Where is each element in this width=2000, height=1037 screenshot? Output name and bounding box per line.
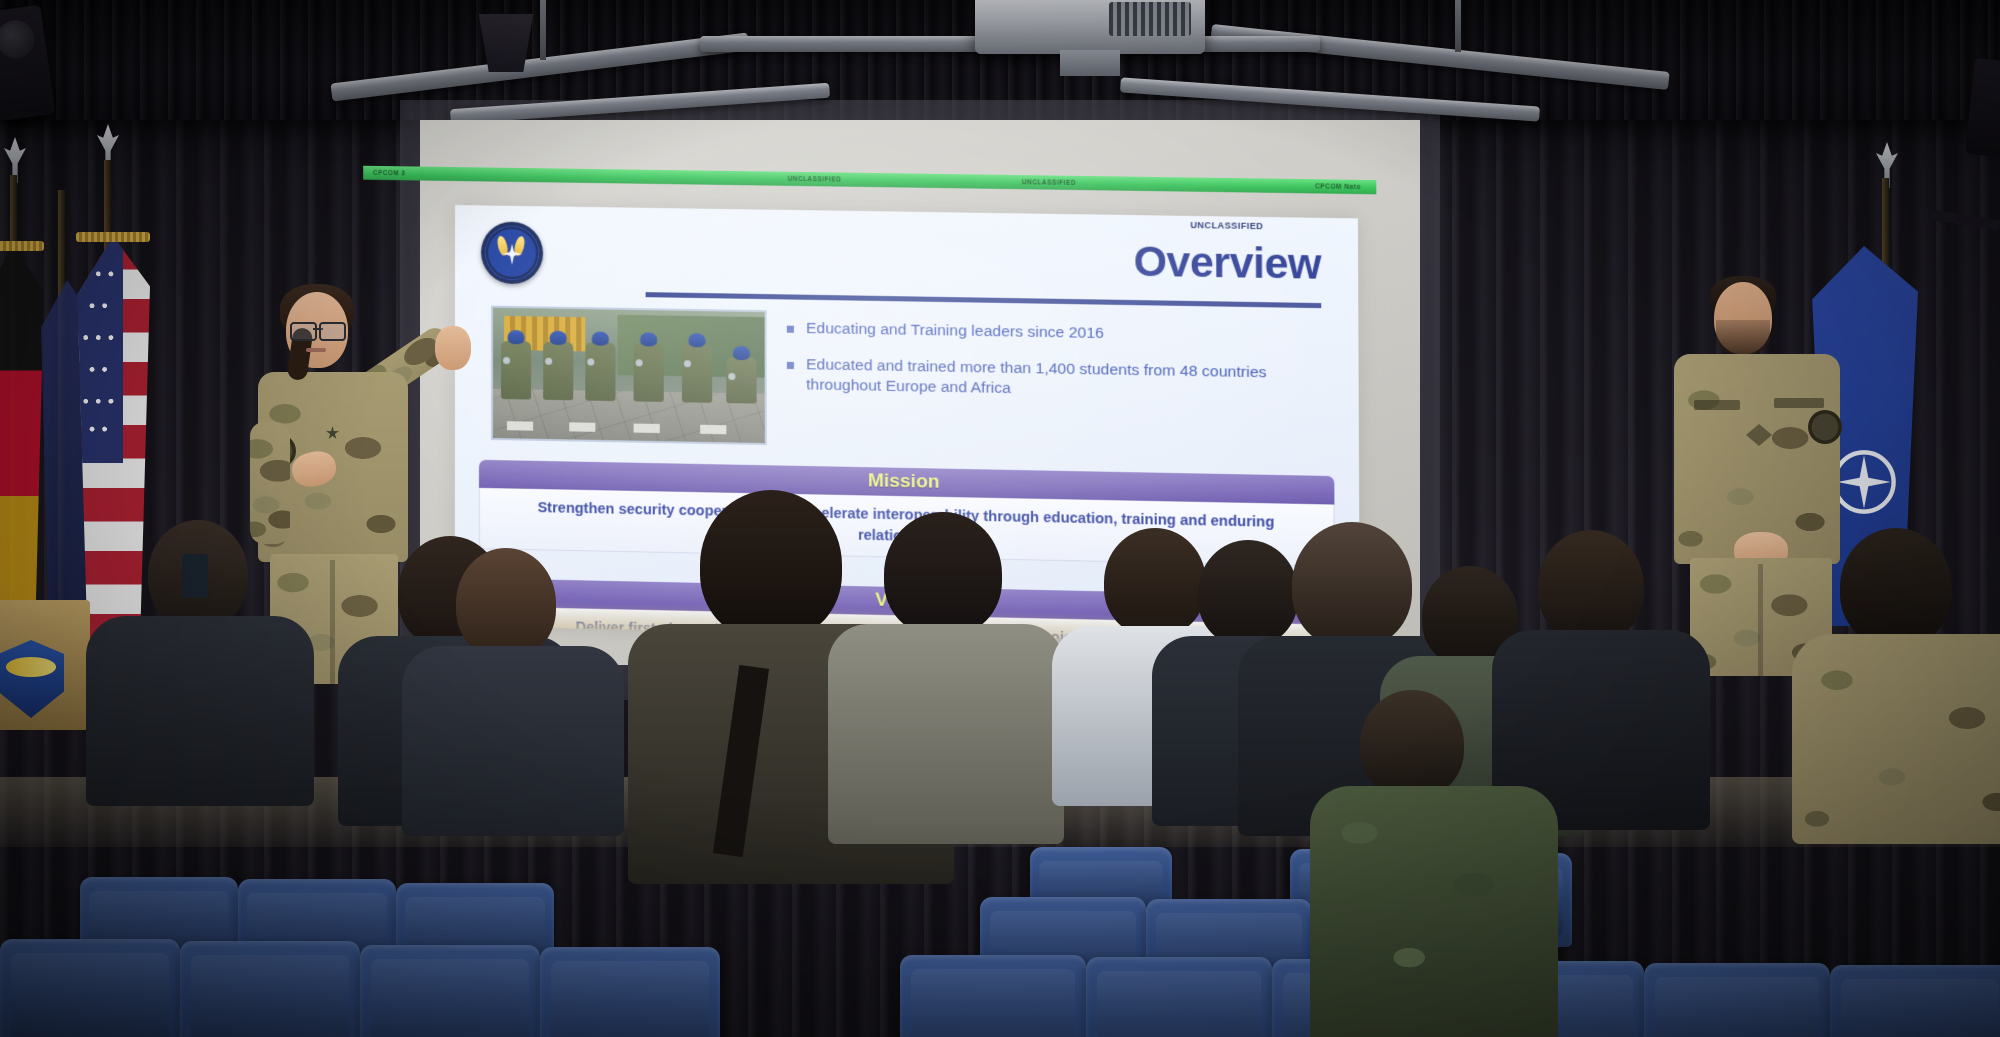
flag-fringe — [0, 241, 44, 251]
slide-photo — [491, 306, 767, 445]
bullet-square-icon — [787, 326, 794, 333]
audience-head — [700, 490, 842, 640]
audience-shoulders — [1310, 786, 1558, 1037]
audience-head — [1198, 540, 1298, 646]
audience-shoulders — [1792, 634, 2000, 844]
title-underline — [646, 292, 1322, 308]
audience-head — [1292, 522, 1412, 648]
classification-right: UNCLASSIFIED — [1022, 179, 1076, 186]
audience-head — [1538, 530, 1644, 642]
audience-shoulders — [828, 624, 1064, 844]
photo-soldier — [634, 343, 664, 402]
classification-left: CPCOM 3 — [373, 170, 405, 177]
slide-bullet-list: Educating and Training leaders since 201… — [787, 319, 1336, 422]
bullet-text: Educated and trained more than 1,400 stu… — [806, 355, 1336, 405]
seat — [1086, 957, 1272, 1037]
photo-marker-block — [569, 423, 595, 433]
photo-soldier — [543, 342, 573, 401]
projector-vent — [1109, 2, 1191, 36]
projector-mount — [1060, 50, 1120, 76]
presenter-raised-hand — [435, 326, 471, 370]
photo-soldier — [682, 344, 712, 403]
nco-beard — [1716, 320, 1770, 356]
truss-hanger-right — [1455, 0, 1461, 52]
photo-marker-block — [700, 425, 726, 435]
audience-head — [456, 548, 556, 658]
truss-hanger-left — [540, 0, 546, 60]
audience-head — [1360, 690, 1464, 798]
photo-soldier — [501, 341, 531, 400]
audience-shoulders — [86, 616, 314, 806]
phone-icon — [182, 554, 208, 598]
bullet-item: Educated and trained more than 1,400 stu… — [787, 355, 1336, 405]
flag-fringe — [76, 232, 150, 242]
bullet-square-icon — [787, 362, 794, 369]
audience-head — [1104, 528, 1206, 636]
presenter-left-arm — [250, 422, 290, 544]
seat — [180, 941, 360, 1037]
nato-school-emblem — [481, 221, 543, 284]
nco-servicetape — [1774, 398, 1824, 408]
photo-marker-block — [634, 424, 660, 434]
seat — [540, 947, 720, 1037]
emblem-compass-star — [495, 237, 529, 272]
ceiling-projector — [975, 0, 1205, 54]
auditorium-scene: CPCOM 3 UNCLASSIFIED UNCLASSIFIED CPCOM … — [0, 0, 2000, 1037]
classification-center: UNCLASSIFIED — [788, 176, 842, 183]
seat — [1830, 965, 2000, 1037]
photo-marker-block — [507, 421, 533, 431]
photo-soldier — [585, 342, 615, 401]
seat — [0, 939, 180, 1037]
presenter-mouth — [306, 348, 326, 352]
seat — [1644, 963, 1830, 1037]
photo-ground — [493, 388, 765, 443]
seat — [900, 955, 1086, 1037]
photo-soldier — [726, 357, 756, 404]
bullet-item: Educating and Training leaders since 201… — [787, 319, 1336, 348]
seat — [360, 945, 540, 1037]
classification-far-right: CPCOM Nato — [1315, 183, 1361, 190]
flag-cloth — [76, 236, 150, 656]
audience-shoulders — [402, 646, 624, 836]
slide-header-classification: UNCLASSIFIED — [1190, 220, 1263, 231]
audience-head — [884, 512, 1002, 636]
audience-head — [1840, 528, 1952, 646]
nco-nametape — [1694, 400, 1740, 410]
bullet-text: Educating and Training leaders since 201… — [806, 319, 1104, 344]
slide-title: Overview — [1134, 237, 1322, 289]
nco-unit-patch — [1808, 410, 1842, 444]
glasses-icon — [290, 322, 346, 337]
